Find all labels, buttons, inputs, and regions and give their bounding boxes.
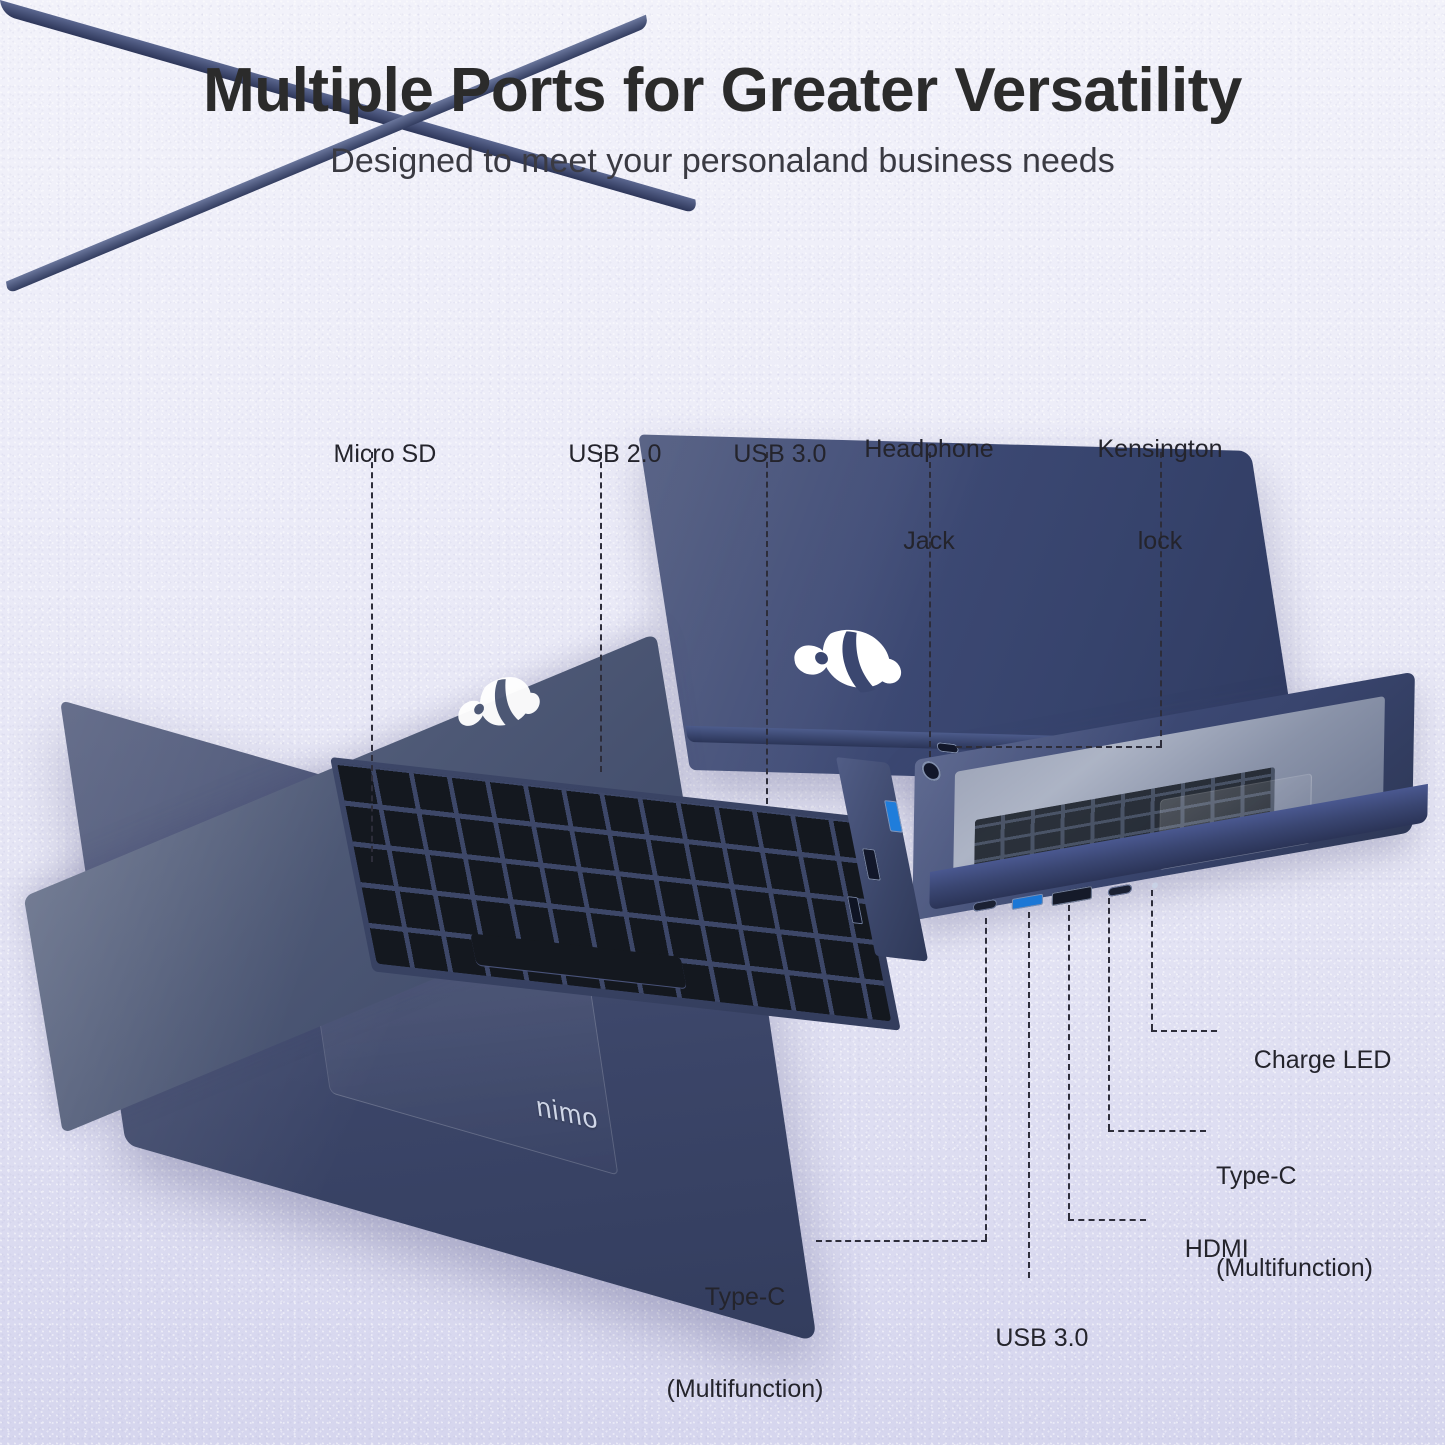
leader-line-hdmi-h: [1068, 1219, 1146, 1221]
callout-label-usb-3-0-bottom: USB 3.0: [968, 1292, 1089, 1384]
leader-line-charge-led-v: [1151, 890, 1153, 1030]
leader-line-type-c-right-h: [1108, 1130, 1206, 1132]
page-subtitle: Designed to meet your personaland busine…: [0, 141, 1445, 182]
leader-line-charge-led-h: [1151, 1030, 1217, 1032]
page-title: Multiple Ports for Greater Versatility: [0, 58, 1445, 125]
charge-led-indicator: [1152, 882, 1158, 889]
callout-label-micro-sd: Micro SD: [306, 408, 437, 500]
callout-label-headphone-jack: Headphone Jack: [864, 373, 993, 617]
callout-label-headphone-jack-line2: Jack: [864, 526, 993, 557]
callout-label-type-c-right-line1: Type-C: [1216, 1161, 1373, 1192]
callout-label-type-c-left: Type-C (Multifunction): [667, 1221, 824, 1445]
leader-line-usb-3-0-top: [766, 452, 768, 804]
callout-label-usb-2-0: USB 2.0: [541, 408, 662, 500]
leader-line-usb-3-0-bottom: [1028, 912, 1030, 1278]
port-type-c-multifunction: [1108, 884, 1132, 897]
callout-label-usb-3-0-top: USB 3.0: [706, 408, 827, 500]
leader-line-type-c-left-h: [816, 1240, 987, 1242]
header-block: Multiple Ports for Greater Versatility D…: [0, 58, 1445, 182]
product-infographic: Multiple Ports for Greater Versatility D…: [0, 0, 1445, 1445]
leader-line-type-c-left-v: [985, 918, 987, 1240]
callout-label-kensington-line1: Kensington: [1097, 434, 1222, 465]
leader-line-hdmi-v: [1068, 905, 1070, 1219]
callout-label-headphone-jack-line1: Headphone: [864, 434, 993, 465]
callout-label-kensington-line2: lock: [1097, 526, 1222, 557]
callout-label-hdmi: HDMI: [1157, 1203, 1249, 1295]
callout-label-type-c-left-line1: Type-C: [667, 1282, 824, 1313]
leader-line-kensington-h: [956, 746, 1162, 748]
callout-label-charge-led: Charge LED: [1226, 1014, 1391, 1106]
callout-label-kensington: Kensington lock: [1097, 373, 1222, 617]
leader-line-usb-2-0: [600, 452, 602, 772]
callout-label-type-c-left-line2: (Multifunction): [667, 1374, 824, 1405]
leader-line-micro-sd: [371, 452, 373, 862]
clownfish-logo-icon: [789, 619, 910, 700]
leader-line-type-c-right-v: [1108, 898, 1110, 1130]
